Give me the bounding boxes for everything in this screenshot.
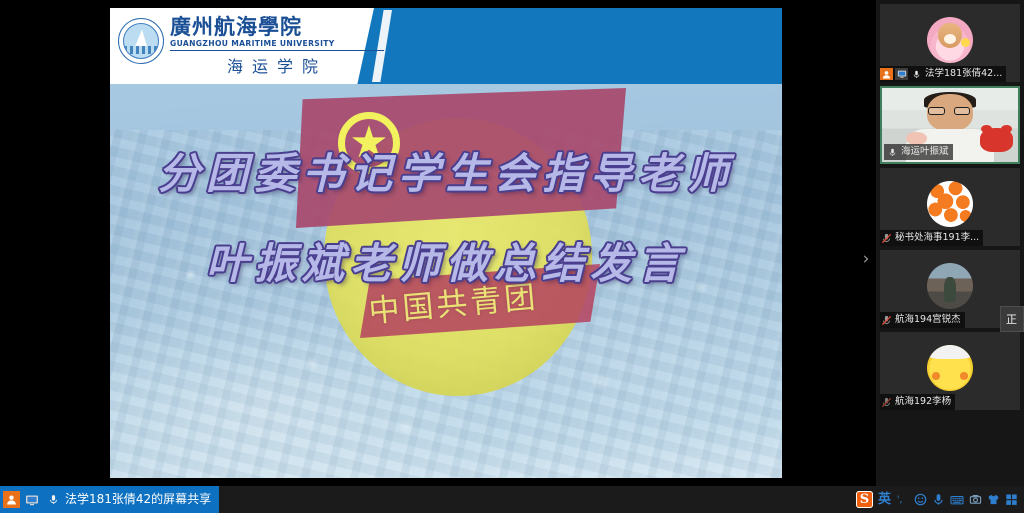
- language-mode-icon[interactable]: 英: [878, 491, 891, 508]
- mic-on-icon: [44, 491, 62, 509]
- participant-namebar: 法学181张倩42...: [880, 66, 1006, 82]
- mic-on-icon: [886, 146, 899, 158]
- meeting-window: ★ 中国共青团 廣州航海學院: [0, 0, 1024, 513]
- video-person-glasses-right: [954, 107, 970, 115]
- street-photo-avatar: [927, 263, 973, 309]
- shared-screen-stage[interactable]: ★ 中国共青团 廣州航海學院: [0, 0, 862, 486]
- pinyin-tone-icon[interactable]: ',: [896, 491, 909, 508]
- avatar-accent: [961, 38, 970, 47]
- wordmark-divider: [170, 50, 384, 51]
- emblem-star-icon: ★: [346, 120, 392, 166]
- participant-name: 海运叶振斌: [901, 145, 949, 159]
- taskbar-screenshare-entry[interactable]: 法学181张倩42的屏幕共享: [0, 486, 219, 513]
- mic-muted-icon: [880, 396, 893, 408]
- sailboat-icon: [135, 29, 147, 46]
- mic-on-icon: [910, 68, 923, 80]
- participant-tile[interactable]: 法学181张倩42...: [880, 4, 1020, 82]
- soft-keyboard-icon[interactable]: [950, 491, 964, 508]
- skin-icon[interactable]: [987, 491, 1000, 508]
- host-icon: [3, 491, 20, 508]
- presentation-slide[interactable]: ★ 中国共青团 廣州航海學院: [110, 8, 782, 478]
- dog-avatar: [927, 17, 973, 63]
- participant-name: 航海192李杨: [895, 395, 951, 409]
- oranges-avatar: [927, 181, 973, 227]
- participant-name: 秘书处海事191李...: [895, 231, 979, 245]
- host-icon: [880, 68, 893, 80]
- participant-namebar: 海运叶振斌: [884, 144, 953, 160]
- participant-tile[interactable]: 航海194宫锐杰: [880, 250, 1020, 328]
- emoji-icon[interactable]: [914, 491, 927, 508]
- screen-share-icon: [895, 68, 908, 80]
- taskbar-entry-label: 法学181张倩42的屏幕共享: [65, 486, 211, 513]
- participant-tile[interactable]: 航海192李杨: [880, 332, 1020, 410]
- university-name-en: GUANGZHOU MARITIME UNIVERSITY: [170, 39, 384, 48]
- participant-tile-active-speaker[interactable]: 海运叶振斌: [880, 86, 1020, 164]
- screenshot-icon[interactable]: [969, 491, 982, 508]
- participant-thumbnail-panel[interactable]: 法学181张倩42... 海运叶振斌: [876, 0, 1024, 486]
- youth-league-emblem: ★ 中国共青团: [110, 84, 782, 478]
- taskbar[interactable]: 法学181张倩42的屏幕共享 S 英 ',: [0, 486, 1024, 513]
- participant-namebar: 航海194宫锐杰: [880, 312, 965, 328]
- college-name-cn: 海运学院: [170, 53, 384, 77]
- video-person-glasses-left: [928, 107, 944, 115]
- collapse-panel-chevron-icon[interactable]: ›: [858, 246, 874, 272]
- wave-icon: [124, 46, 158, 54]
- slide-header-band: 廣州航海學院 GUANGZHOU MARITIME UNIVERSITY 海运学…: [110, 8, 782, 84]
- participant-tile[interactable]: 秘书处海事191李...: [880, 168, 1020, 246]
- university-seal-icon: [118, 18, 164, 64]
- avatar-cheek-right: [960, 372, 968, 379]
- participant-name: 法学181张倩42...: [925, 67, 1002, 81]
- svg-text:',: ',: [897, 494, 903, 505]
- avatar-cheek-left: [932, 372, 940, 379]
- sogou-ime-toolbar[interactable]: S 英 ',: [856, 486, 1022, 513]
- speaking-tooltip: 正: [1000, 306, 1024, 332]
- toolbox-icon[interactable]: [1005, 491, 1018, 508]
- university-logo: 廣州航海學院 GUANGZHOU MARITIME UNIVERSITY 海运学…: [118, 16, 384, 77]
- university-wordmark: 廣州航海學院 GUANGZHOU MARITIME UNIVERSITY 海运学…: [170, 16, 384, 77]
- video-prop-right: [980, 128, 1013, 152]
- seal-inner: [123, 23, 159, 59]
- university-name-cn: 廣州航海學院: [170, 16, 384, 38]
- voice-input-icon[interactable]: [932, 491, 945, 508]
- participant-namebar: 航海192李杨: [880, 394, 955, 410]
- screen-share-icon: [23, 491, 41, 509]
- participant-name: 航海194宫锐杰: [895, 313, 961, 327]
- sogou-logo-icon[interactable]: S: [856, 491, 873, 508]
- participant-namebar: 秘书处海事191李...: [880, 230, 983, 246]
- pikachu-avatar: [927, 345, 973, 391]
- mic-muted-icon: [880, 314, 893, 326]
- mic-muted-icon: [880, 232, 893, 244]
